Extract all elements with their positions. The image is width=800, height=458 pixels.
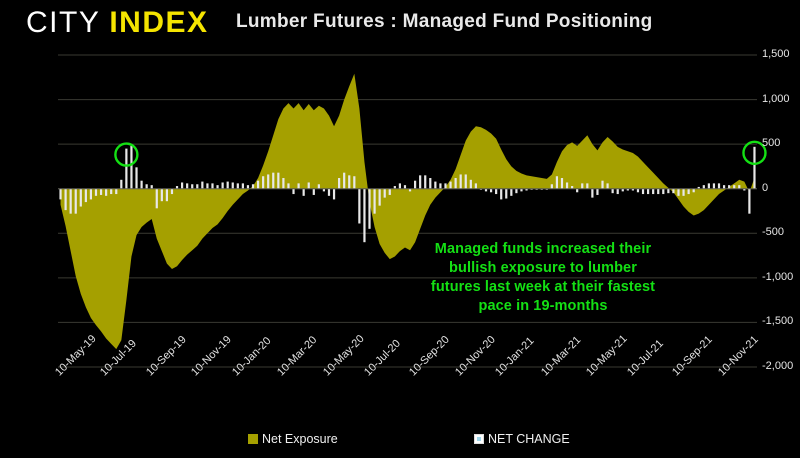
y-axis-tick-label: -1,500: [762, 315, 793, 327]
legend-item-net-exposure[interactable]: Net Exposure: [248, 432, 338, 446]
page-title: Lumber Futures : Managed Fund Positionin…: [236, 11, 653, 33]
y-axis-tick-label: 500: [762, 137, 780, 149]
chart-annotation: Managed funds increased their bullish ex…: [395, 240, 691, 316]
legend-label-net-exposure: Net Exposure: [262, 432, 338, 446]
y-axis-tick-label: 0: [762, 182, 768, 194]
annotation-line-3: futures last week at their fastest: [395, 278, 691, 297]
net-exposure-swatch-icon: [248, 434, 258, 444]
annotation-line-4: pace in 19-months: [395, 297, 691, 316]
x-axis-labels: 10-May-1910-Jul-1910-Sep-1910-Nov-1910-J…: [0, 368, 800, 430]
annotation-line-2: bullish exposure to lumber: [395, 259, 691, 278]
brand-word-city: CITY: [26, 6, 100, 39]
y-axis-tick-label: -1,000: [762, 271, 793, 283]
annotation-line-1: Managed funds increased their: [395, 240, 691, 259]
y-axis-tick-label: 1,000: [762, 93, 790, 105]
chart-plot-area: [0, 46, 800, 376]
net-change-swatch-icon: [474, 434, 484, 444]
brand-logo: CITYINDEX: [26, 6, 209, 40]
legend-label-net-change: NET CHANGE: [488, 432, 570, 446]
y-axis-tick-label: -500: [762, 226, 784, 238]
y-axis-tick-label: 1,500: [762, 48, 790, 60]
brand-word-index: INDEX: [109, 6, 208, 39]
chart-page: CITYINDEX Lumber Futures : Managed Fund …: [0, 0, 800, 458]
header: CITYINDEX Lumber Futures : Managed Fund …: [0, 0, 800, 46]
chart-svg: [0, 46, 800, 376]
legend-item-net-change[interactable]: NET CHANGE: [474, 432, 570, 446]
highlight-circles: [115, 142, 765, 166]
chart-legend: Net Exposure NET CHANGE: [0, 430, 800, 454]
